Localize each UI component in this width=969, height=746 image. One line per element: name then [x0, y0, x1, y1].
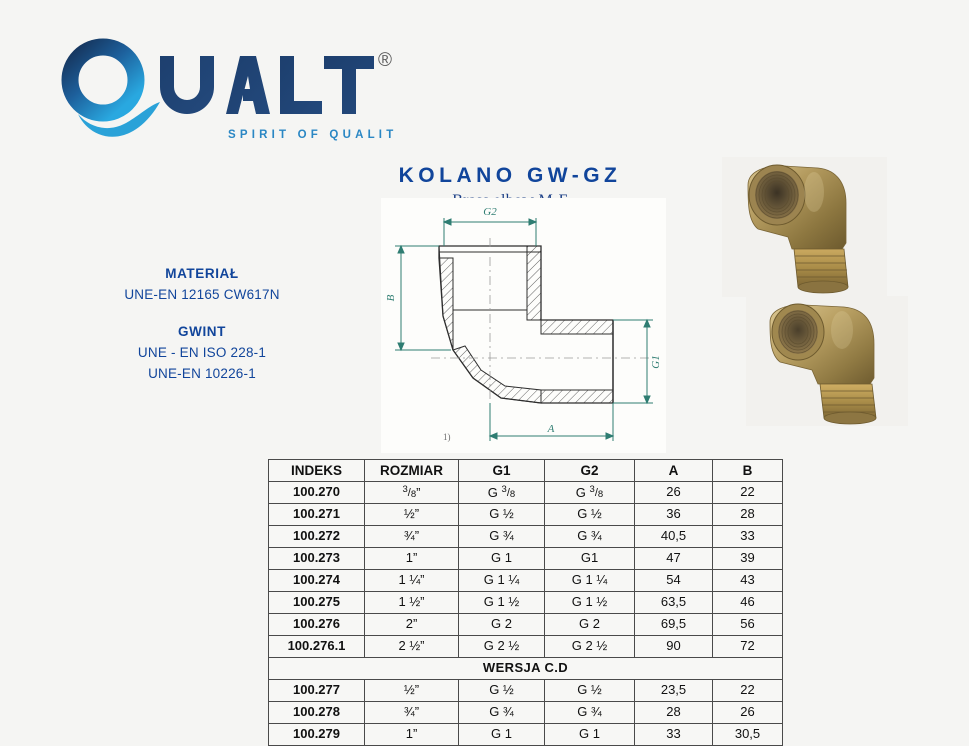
cell-index: 100.275	[269, 592, 365, 614]
table-row: 100.2741 ¼”G 1 ¼G 1 ¼5443	[269, 570, 783, 592]
cell-rozmiar: ½”	[365, 504, 459, 526]
material-value: UNE-EN 12165 CW617N	[82, 285, 322, 306]
cell-a: 36	[635, 504, 713, 526]
cell-g2: G ¾	[545, 526, 635, 548]
table-body: 100.2703/8”G 3/8G 3/82622100.271½”G ½G ½…	[269, 482, 783, 746]
table-row: 100.2791”G 1G 13330,5	[269, 724, 783, 746]
brass-elbow-photo-1-svg	[722, 157, 887, 297]
cell-rozmiar: 1”	[365, 548, 459, 570]
cell-g2: G 1	[545, 724, 635, 746]
table-row: 100.2762”G 2G 269,556	[269, 614, 783, 636]
cell-index: 100.277	[269, 680, 365, 702]
column-header-g2: G2	[545, 460, 635, 482]
cell-g2: G 1 ¼	[545, 570, 635, 592]
cell-g2: G 2	[545, 614, 635, 636]
cell-a: 26	[635, 482, 713, 504]
cell-index: 100.276	[269, 614, 365, 636]
cell-b: 30,5	[713, 724, 783, 746]
section-label-wersja: WERSJA C.D	[269, 658, 783, 680]
cell-rozmiar: 2”	[365, 614, 459, 636]
cell-g2: G ¾	[545, 702, 635, 724]
cell-index: 100.273	[269, 548, 365, 570]
specification-table-wrap: INDEKS ROZMIAR G1 G2 A B 100.2703/8”G 3/…	[268, 459, 782, 746]
cell-g1: G ¾	[459, 702, 545, 724]
dimension-label-a: A	[547, 423, 555, 435]
dimension-label-g1: G1	[650, 355, 662, 368]
cell-b: 56	[713, 614, 783, 636]
cell-index: 100.272	[269, 526, 365, 548]
cell-b: 22	[713, 680, 783, 702]
cell-b: 28	[713, 504, 783, 526]
table-row: 100.2751 ½”G 1 ½G 1 ½63,546	[269, 592, 783, 614]
cell-rozmiar: 3/8”	[365, 482, 459, 504]
cell-g1: G 1	[459, 724, 545, 746]
table-row: 100.276.12 ½”G 2 ½G 2 ½9072	[269, 636, 783, 658]
registered-mark-icon: ®	[378, 50, 392, 71]
cell-g1: G ½	[459, 680, 545, 702]
column-header-indeks: INDEKS	[269, 460, 365, 482]
table-row: 100.272¾”G ¾G ¾40,533	[269, 526, 783, 548]
cell-rozmiar: 1 ½”	[365, 592, 459, 614]
material-heading: MATERIAŁ	[82, 264, 322, 285]
brand-logo: ® SPIRIT OF QUALITY	[56, 32, 396, 150]
dimension-g1	[613, 320, 653, 403]
cell-index: 100.270	[269, 482, 365, 504]
brass-elbow-photo-1	[722, 157, 887, 297]
cell-rozmiar: ¾”	[365, 702, 459, 724]
cell-g2: G ½	[545, 680, 635, 702]
cell-g1: G 1 ½	[459, 592, 545, 614]
cell-rozmiar: 1”	[365, 724, 459, 746]
table-row: 100.271½”G ½G ½3628	[269, 504, 783, 526]
specification-table: INDEKS ROZMIAR G1 G2 A B 100.2703/8”G 3/…	[268, 459, 783, 746]
cell-a: 69,5	[635, 614, 713, 636]
cell-b: 26	[713, 702, 783, 724]
cell-rozmiar: ½”	[365, 680, 459, 702]
table-row: 100.278¾”G ¾G ¾2826	[269, 702, 783, 724]
cell-a: 54	[635, 570, 713, 592]
cell-index: 100.271	[269, 504, 365, 526]
cell-index: 100.278	[269, 702, 365, 724]
table-row: 100.277½”G ½G ½23,522	[269, 680, 783, 702]
table-section-row: WERSJA C.D	[269, 658, 783, 680]
specification-block: MATERIAŁ UNE-EN 12165 CW617N GWINT UNE -…	[82, 264, 322, 385]
cell-g2: G 2 ½	[545, 636, 635, 658]
cell-b: 22	[713, 482, 783, 504]
cell-g1: G 1	[459, 548, 545, 570]
cell-rozmiar: 2 ½”	[365, 636, 459, 658]
column-header-g1: G1	[459, 460, 545, 482]
cell-g2: G1	[545, 548, 635, 570]
technical-drawing-svg: G2 B G1 A 1)	[381, 198, 666, 453]
drawing-note: 1)	[443, 432, 451, 442]
thread-value-1: UNE - EN ISO 228-1	[82, 343, 322, 364]
brand-tagline: SPIRIT OF QUALITY	[228, 129, 396, 141]
dimension-a	[490, 403, 613, 441]
cell-index: 100.276.1	[269, 636, 365, 658]
brand-logo-svg: ® SPIRIT OF QUALITY	[56, 32, 396, 150]
cell-rozmiar: ¾”	[365, 526, 459, 548]
table-row: 100.2731”G 1G14739	[269, 548, 783, 570]
cell-b: 72	[713, 636, 783, 658]
spec-spacer	[82, 306, 322, 322]
cell-a: 47	[635, 548, 713, 570]
column-header-b: B	[713, 460, 783, 482]
cell-g1: G 1 ¼	[459, 570, 545, 592]
technical-drawing: G2 B G1 A 1)	[381, 198, 666, 453]
cell-b: 39	[713, 548, 783, 570]
cell-g1: G 3/8	[459, 482, 545, 504]
cell-a: 63,5	[635, 592, 713, 614]
cell-g1: G ¾	[459, 526, 545, 548]
cell-rozmiar: 1 ¼”	[365, 570, 459, 592]
cell-index: 100.274	[269, 570, 365, 592]
page-title: KOLANO GW-GZ	[330, 164, 690, 187]
cell-g1: G 2	[459, 614, 545, 636]
brass-elbow-photo-2-svg	[746, 296, 908, 426]
brass-elbow-photo-2	[746, 296, 908, 426]
cell-b: 33	[713, 526, 783, 548]
cell-g2: G 1 ½	[545, 592, 635, 614]
elbow-cross-section	[439, 246, 613, 403]
dimension-label-b: B	[385, 294, 397, 301]
column-header-rozmiar: ROZMIAR	[365, 460, 459, 482]
cell-index: 100.279	[269, 724, 365, 746]
cell-g1: G 2 ½	[459, 636, 545, 658]
cell-a: 40,5	[635, 526, 713, 548]
cell-g1: G ½	[459, 504, 545, 526]
cell-b: 43	[713, 570, 783, 592]
cell-g2: G 3/8	[545, 482, 635, 504]
column-header-a: A	[635, 460, 713, 482]
thread-value-2: UNE-EN 10226-1	[82, 364, 322, 385]
table-row: 100.2703/8”G 3/8G 3/82622	[269, 482, 783, 504]
cell-a: 90	[635, 636, 713, 658]
table-header-row: INDEKS ROZMIAR G1 G2 A B	[269, 460, 783, 482]
thread-heading: GWINT	[82, 322, 322, 343]
cell-b: 46	[713, 592, 783, 614]
cell-g2: G ½	[545, 504, 635, 526]
cell-a: 23,5	[635, 680, 713, 702]
dimension-label-g2: G2	[483, 206, 497, 218]
cell-a: 28	[635, 702, 713, 724]
cell-a: 33	[635, 724, 713, 746]
